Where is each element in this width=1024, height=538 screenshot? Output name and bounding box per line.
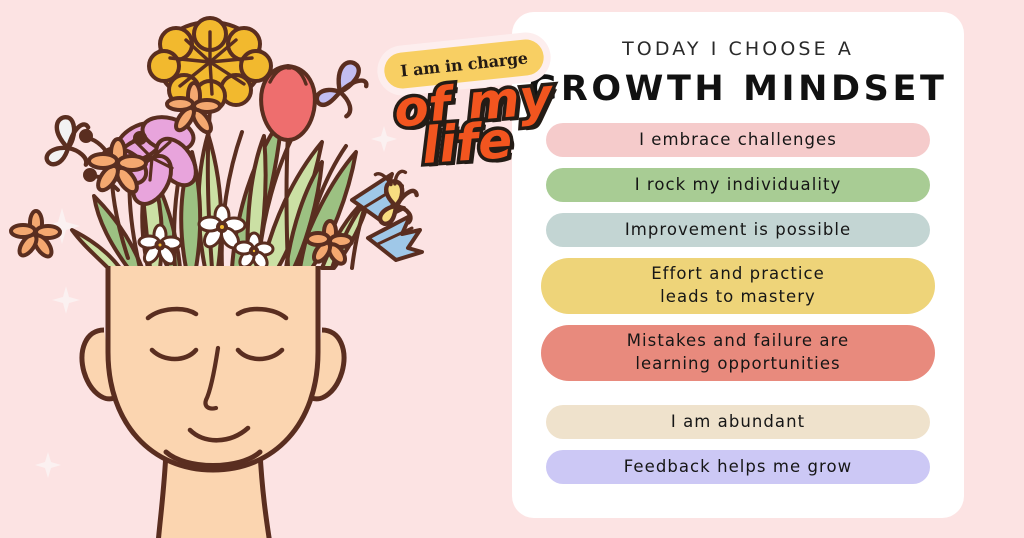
poster: TODAY I CHOOSE A GROWTH MINDSET I embrac… (0, 0, 1024, 538)
affirmation-pill: Feedback helps me grow (546, 450, 930, 484)
affirmation-pill: Mistakes and failure arelearning opportu… (541, 325, 935, 381)
affirmation-pill: I am abundant (546, 405, 930, 439)
purple-butterfly (314, 56, 371, 119)
affirmation-list: I embrace challengesI rock my individual… (512, 123, 964, 495)
affirmation-pill: Effort and practiceleads to mastery (541, 258, 935, 314)
card-title: GROWTH MINDSET (529, 69, 948, 109)
card-eyebrow: TODAY I CHOOSE A (622, 38, 854, 60)
affirmation-pill: Improvement is possible (546, 213, 930, 247)
sticker-word-line2: life (420, 111, 514, 175)
face-illustration (82, 266, 344, 538)
affirmation-card: TODAY I CHOOSE A GROWTH MINDSET I embrac… (512, 12, 964, 518)
affirmation-pill: I embrace challenges (546, 123, 930, 157)
sticker-badge: I am in charge of my life (372, 38, 558, 178)
affirmation-pill: I rock my individuality (546, 168, 930, 202)
